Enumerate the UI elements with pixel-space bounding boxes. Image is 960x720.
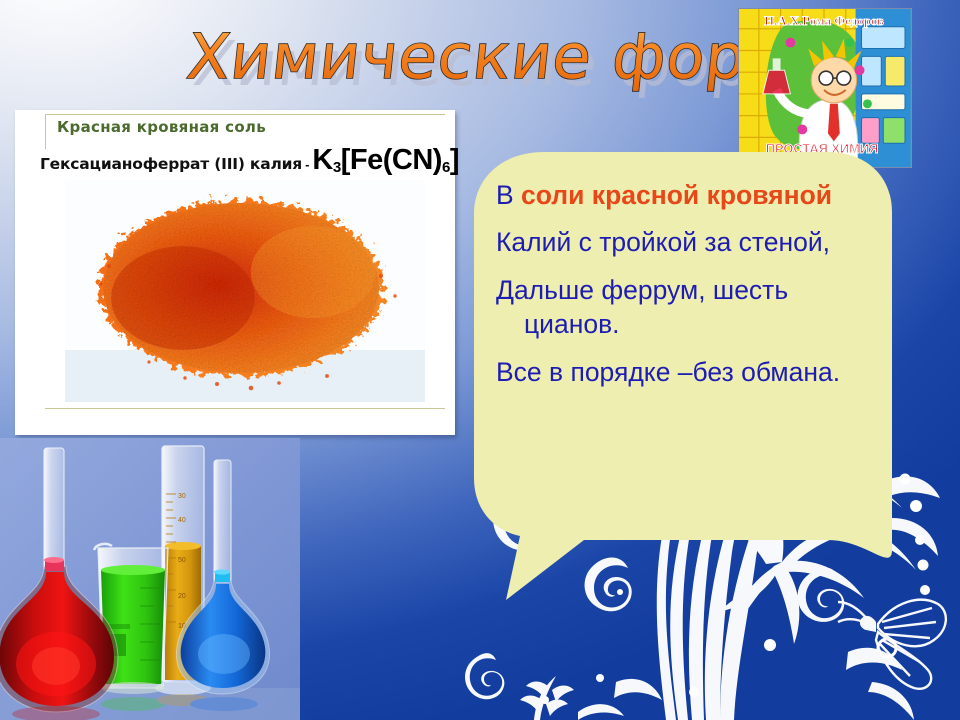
salt-name-heading: Красная кровяная соль <box>57 118 266 136</box>
slide-canvas: Химические формулы Химические формулы <box>0 0 960 720</box>
bubble-line-4: Все в порядке –без обмана. <box>496 355 876 389</box>
page-title: Химические формулы Химические формулы <box>182 14 752 102</box>
formula-part-1: K <box>312 144 332 176</box>
bubble-line-1-highlight: соли красной кровяной <box>521 180 832 210</box>
bubble-text-block: В соли красной кровяной Калий с тройкой … <box>496 178 876 389</box>
formula-sub-1: 3 <box>333 159 341 176</box>
book-top-text: Н.А.Х.Рома Федоров <box>764 14 884 28</box>
svg-text:20: 20 <box>178 593 186 600</box>
speech-bubble: В соли красной кровяной Калий с тройкой … <box>466 148 900 600</box>
svg-text:30: 30 <box>178 493 186 500</box>
formula-label: Гексацианоферрат (III) калия <box>40 155 302 173</box>
title-text: Химические формулы <box>184 20 752 93</box>
formula-row: Гексацианоферрат (III) калия - K3[Fe(CN)… <box>40 144 450 178</box>
chemical-formula: K3[Fe(CN)6] <box>312 144 459 177</box>
bubble-line-2: Калий с тройкой за стеной, <box>496 225 876 259</box>
bubble-line-3: Дальше феррум, шесть цианов. <box>496 273 876 342</box>
panel-bottom-rule <box>45 408 445 409</box>
salt-info-panel: Красная кровяная соль Гексацианоферрат (… <box>15 110 455 435</box>
panel-top-rule <box>45 114 445 115</box>
svg-text:40: 40 <box>178 517 186 524</box>
formula-part-3: ] <box>450 144 459 176</box>
formula-sub-2: 6 <box>442 159 450 176</box>
formula-part-2: [Fe(CN) <box>341 144 442 176</box>
crystal-pile-photo <box>65 180 425 402</box>
bubble-line-1: В соли красной кровяной <box>496 178 876 212</box>
bubble-line-1-prefix: В <box>496 180 521 210</box>
book-cover-image: Н.А.Х.Рома Федоров ПРОСТАЯ ХИМИЯ <box>738 8 912 168</box>
lab-glassware-photo: 30 40 50 20 10 <box>0 438 300 720</box>
svg-text:50: 50 <box>178 557 186 564</box>
formula-dash: - <box>302 157 312 172</box>
